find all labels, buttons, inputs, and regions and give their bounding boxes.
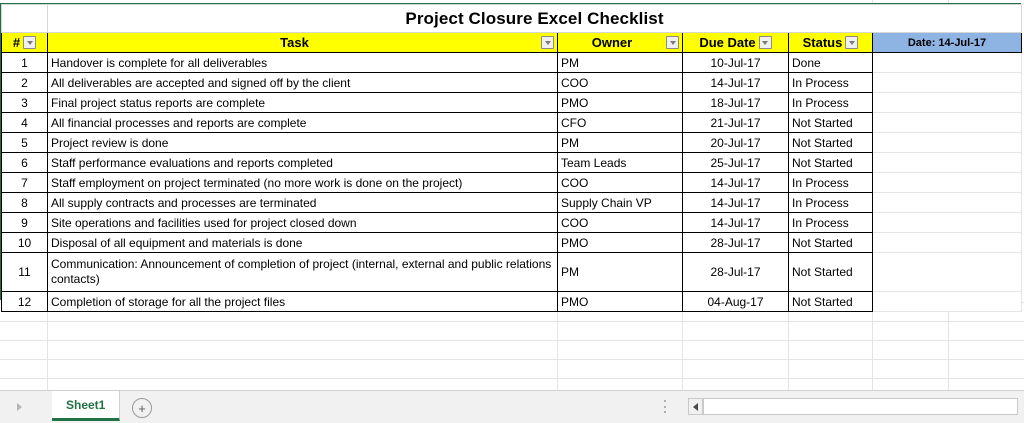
- row-cell-num[interactable]: 10: [2, 233, 48, 253]
- row-cell-empty[interactable]: [873, 73, 1022, 93]
- scrollbar-track[interactable]: [703, 398, 1018, 415]
- title-row-blank-cell[interactable]: [2, 5, 48, 33]
- row-cell-status[interactable]: In Process: [789, 173, 873, 193]
- row-cell-task[interactable]: Final project status reports are complet…: [48, 93, 558, 113]
- row-cell-task[interactable]: All deliverables are accepted and signed…: [48, 73, 558, 93]
- row-cell-empty[interactable]: [873, 193, 1022, 213]
- row-cell-empty[interactable]: [873, 113, 1022, 133]
- row-cell-status[interactable]: In Process: [789, 213, 873, 233]
- row-cell-status[interactable]: In Process: [789, 73, 873, 93]
- row-cell-status[interactable]: Not Started: [789, 153, 873, 173]
- scrollbar-thumb[interactable]: [704, 399, 1017, 414]
- row-cell-owner[interactable]: PMO: [558, 292, 683, 312]
- row-cell-owner[interactable]: COO: [558, 173, 683, 193]
- filter-dropdown-due-date-icon[interactable]: [759, 36, 772, 49]
- row-cell-due-date[interactable]: 21-Jul-17: [683, 113, 789, 133]
- column-header-owner-label: Owner: [561, 35, 663, 50]
- scroll-left-arrow-icon[interactable]: [688, 398, 703, 415]
- table-row[interactable]: 3Final project status reports are comple…: [2, 93, 1022, 113]
- row-cell-empty[interactable]: [873, 53, 1022, 73]
- horizontal-scrollbar[interactable]: [688, 398, 1018, 415]
- column-header-task[interactable]: Task: [48, 33, 558, 53]
- table-body: 1Handover is complete for all deliverabl…: [2, 53, 1022, 312]
- row-cell-task[interactable]: Communication: Announcement of completio…: [48, 253, 558, 292]
- row-cell-due-date[interactable]: 25-Jul-17: [683, 153, 789, 173]
- title-row: Project Closure Excel Checklist: [2, 5, 1022, 33]
- checklist-table[interactable]: Project Closure Excel Checklist # Task: [1, 4, 1022, 312]
- row-cell-task[interactable]: Handover is complete for all deliverable…: [48, 53, 558, 73]
- scrollbar-grip-icon[interactable]: [663, 400, 667, 413]
- row-cell-due-date[interactable]: 04-Aug-17: [683, 292, 789, 312]
- row-cell-num[interactable]: 2: [2, 73, 48, 93]
- row-cell-owner[interactable]: PM: [558, 253, 683, 292]
- column-header-due-date[interactable]: Due Date: [683, 33, 789, 53]
- row-cell-task[interactable]: Completion of storage for all the projec…: [48, 292, 558, 312]
- table-row[interactable]: 8All supply contracts and processes are …: [2, 193, 1022, 213]
- row-cell-status[interactable]: Not Started: [789, 292, 873, 312]
- row-cell-empty[interactable]: [873, 133, 1022, 153]
- table-row[interactable]: 7Staff employment on project terminated …: [2, 173, 1022, 193]
- row-cell-status[interactable]: Not Started: [789, 113, 873, 133]
- row-cell-empty[interactable]: [873, 173, 1022, 193]
- column-header-num-label: #: [13, 35, 20, 50]
- row-cell-empty[interactable]: [873, 292, 1022, 312]
- row-cell-empty[interactable]: [873, 93, 1022, 113]
- filter-dropdown-num-icon[interactable]: [23, 36, 36, 49]
- row-cell-owner[interactable]: COO: [558, 213, 683, 233]
- row-cell-task[interactable]: All financial processes and reports are …: [48, 113, 558, 133]
- row-cell-due-date[interactable]: 20-Jul-17: [683, 133, 789, 153]
- row-cell-due-date[interactable]: 14-Jul-17: [683, 173, 789, 193]
- column-header-status[interactable]: Status: [789, 33, 873, 53]
- row-cell-num[interactable]: 7: [2, 173, 48, 193]
- row-cell-owner[interactable]: PMO: [558, 93, 683, 113]
- row-cell-status[interactable]: In Process: [789, 93, 873, 113]
- row-cell-owner[interactable]: PM: [558, 133, 683, 153]
- row-cell-due-date[interactable]: 28-Jul-17: [683, 253, 789, 292]
- row-cell-empty[interactable]: [873, 233, 1022, 253]
- table-row[interactable]: 6Staff performance evaluations and repor…: [2, 153, 1022, 173]
- row-cell-num[interactable]: 4: [2, 113, 48, 133]
- row-cell-due-date[interactable]: 14-Jul-17: [683, 73, 789, 93]
- row-cell-due-date[interactable]: 18-Jul-17: [683, 93, 789, 113]
- row-cell-owner[interactable]: PMO: [558, 233, 683, 253]
- row-cell-owner[interactable]: Team Leads: [558, 153, 683, 173]
- sheet-tab-sheet1[interactable]: Sheet1: [52, 391, 120, 421]
- row-cell-num[interactable]: 6: [2, 153, 48, 173]
- column-header-num[interactable]: #: [2, 33, 48, 53]
- row-cell-status[interactable]: Not Started: [789, 133, 873, 153]
- table-row[interactable]: 12Completion of storage for all the proj…: [2, 292, 1022, 312]
- row-cell-task[interactable]: Staff performance evaluations and report…: [48, 153, 558, 173]
- row-cell-due-date[interactable]: 14-Jul-17: [683, 193, 789, 213]
- excel-window: Project Closure Excel Checklist # Task: [0, 0, 1024, 422]
- row-cell-due-date[interactable]: 28-Jul-17: [683, 233, 789, 253]
- row-cell-task[interactable]: Site operations and facilities used for …: [48, 213, 558, 233]
- column-header-status-label: Status: [803, 35, 843, 50]
- row-cell-num[interactable]: 5: [2, 133, 48, 153]
- row-cell-status[interactable]: In Process: [789, 193, 873, 213]
- row-cell-owner[interactable]: COO: [558, 73, 683, 93]
- column-header-owner[interactable]: Owner: [558, 33, 683, 53]
- row-cell-task[interactable]: All supply contracts and processes are t…: [48, 193, 558, 213]
- row-cell-task[interactable]: Disposal of all equipment and materials …: [48, 233, 558, 253]
- column-header-task-label: Task: [51, 35, 538, 50]
- row-cell-num[interactable]: 1: [2, 53, 48, 73]
- row-cell-owner[interactable]: PM: [558, 53, 683, 73]
- row-cell-due-date[interactable]: 14-Jul-17: [683, 213, 789, 233]
- worksheet-area[interactable]: Project Closure Excel Checklist # Task: [0, 0, 1024, 390]
- row-cell-num[interactable]: 12: [2, 292, 48, 312]
- row-cell-status[interactable]: Not Started: [789, 233, 873, 253]
- sheet-tab-label: Sheet1: [66, 398, 105, 412]
- table-row[interactable]: 10Disposal of all equipment and material…: [2, 233, 1022, 253]
- row-cell-empty[interactable]: [873, 153, 1022, 173]
- row-cell-task[interactable]: Project review is done: [48, 133, 558, 153]
- page-title[interactable]: Project Closure Excel Checklist: [48, 5, 1022, 33]
- table-row[interactable]: 1Handover is complete for all deliverabl…: [2, 53, 1022, 73]
- row-cell-owner[interactable]: Supply Chain VP: [558, 193, 683, 213]
- add-sheet-glyph: +: [138, 402, 146, 415]
- column-header-due-date-label: Due Date: [699, 35, 755, 50]
- row-cell-empty[interactable]: [873, 253, 1022, 292]
- add-sheet-icon[interactable]: +: [132, 398, 152, 418]
- table-row[interactable]: 9Site operations and facilities used for…: [2, 213, 1022, 233]
- row-cell-num[interactable]: 11: [2, 253, 48, 292]
- filter-dropdown-status-icon[interactable]: [845, 36, 858, 49]
- filter-dropdown-task-icon[interactable]: [541, 36, 554, 49]
- table-row[interactable]: 5Project review is donePM20-Jul-17Not St…: [2, 133, 1022, 153]
- table-row[interactable]: 2All deliverables are accepted and signe…: [2, 73, 1022, 93]
- table-row[interactable]: 4All financial processes and reports are…: [2, 113, 1022, 133]
- row-cell-num[interactable]: 3: [2, 93, 48, 113]
- row-cell-owner[interactable]: CFO: [558, 113, 683, 133]
- row-cell-num[interactable]: 9: [2, 213, 48, 233]
- sheet-tab-bar: Sheet1 +: [0, 390, 1024, 423]
- table-header-row: # Task Owner: [2, 33, 1022, 53]
- row-cell-status[interactable]: Done: [789, 53, 873, 73]
- row-cell-empty[interactable]: [873, 213, 1022, 233]
- date-banner[interactable]: Date: 14-Jul-17: [873, 33, 1022, 53]
- filter-dropdown-owner-icon[interactable]: [666, 36, 679, 49]
- tab-scroll-right-icon[interactable]: [6, 398, 32, 416]
- table-row[interactable]: 11Communication: Announcement of complet…: [2, 253, 1022, 292]
- row-cell-num[interactable]: 8: [2, 193, 48, 213]
- row-cell-due-date[interactable]: 10-Jul-17: [683, 53, 789, 73]
- row-cell-task[interactable]: Staff employment on project terminated (…: [48, 173, 558, 193]
- row-cell-status[interactable]: Not Started: [789, 253, 873, 292]
